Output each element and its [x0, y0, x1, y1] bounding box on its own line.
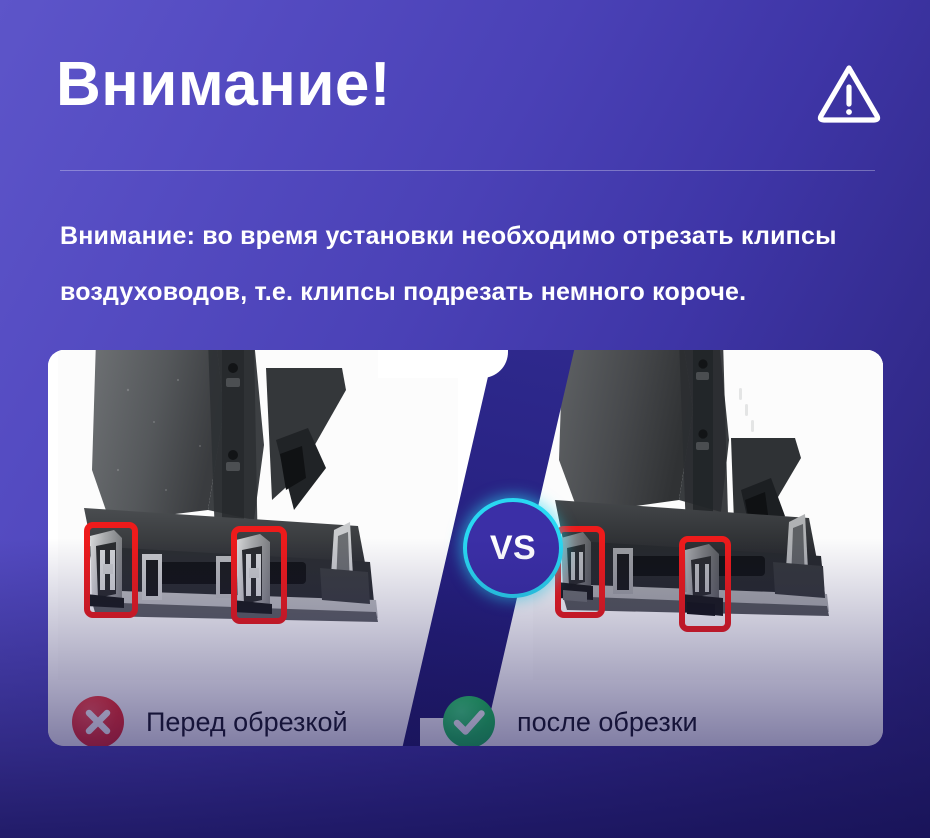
before-photo	[58, 350, 458, 680]
highlight-box-right-1	[555, 526, 605, 618]
page-title: Внимание!	[56, 52, 391, 117]
before-caption: Перед обрезкой	[72, 696, 348, 746]
vs-badge: VS	[463, 498, 563, 598]
divider-corner-top	[378, 350, 508, 378]
comparison-card: VS Перед обрезкой после обрезки	[48, 350, 883, 746]
cross-circle-icon	[72, 696, 124, 746]
after-caption: после обрезки	[443, 696, 698, 746]
header-divider	[60, 170, 875, 171]
highlight-box-left-1	[84, 522, 138, 618]
before-caption-label: Перед обрезкой	[146, 707, 348, 738]
body-text: Внимание: во время установки необходимо …	[60, 208, 880, 320]
highlight-box-right-2	[679, 536, 731, 632]
promo-banner: Внимание! Внимание: во время установки н…	[0, 0, 930, 838]
warning-triangle-icon	[816, 62, 882, 124]
highlight-box-left-2	[231, 526, 287, 624]
check-circle-icon	[443, 696, 495, 746]
after-caption-label: после обрезки	[517, 707, 698, 738]
